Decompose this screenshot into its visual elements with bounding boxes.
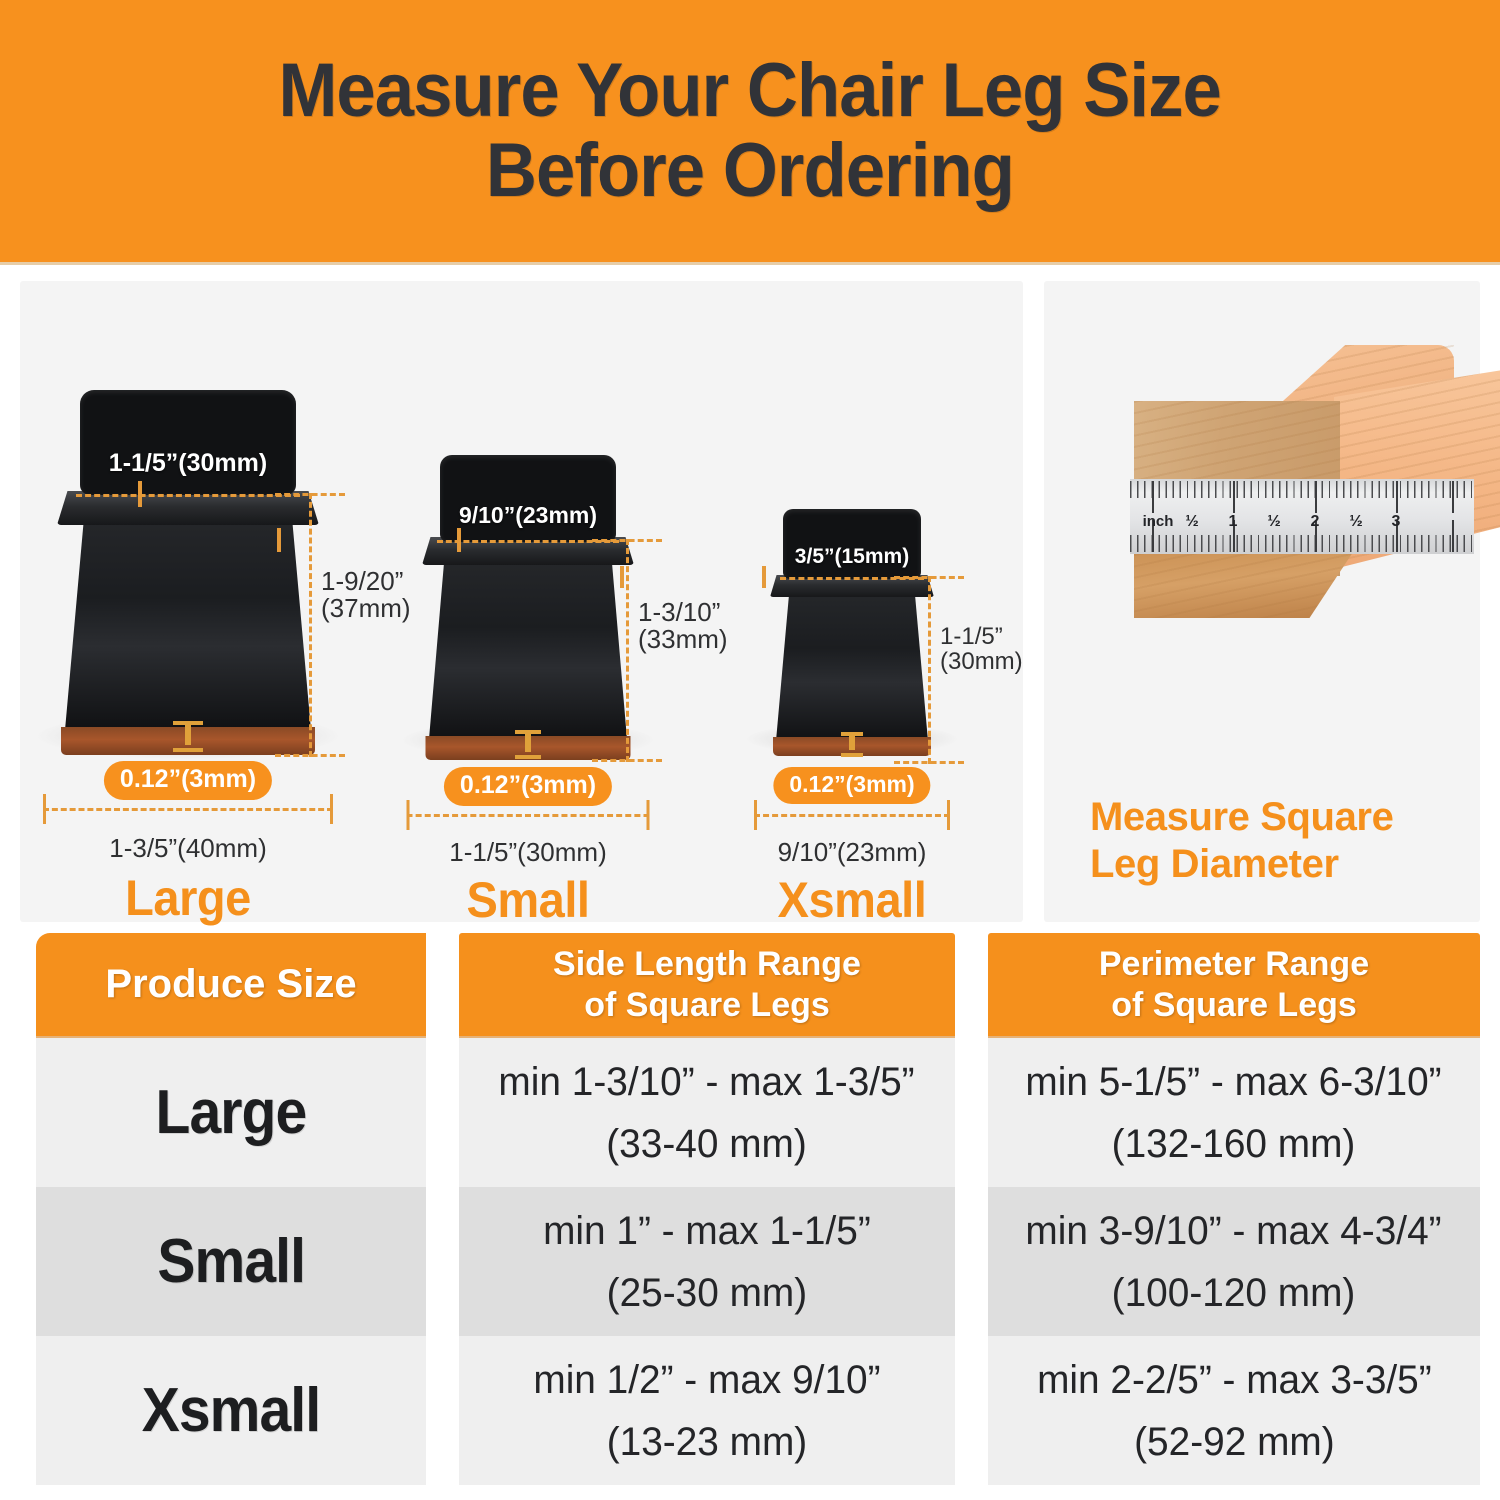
wood-bottom-surface: [1134, 543, 1359, 618]
height-label-line2-small: (33mm): [638, 624, 728, 654]
thickness-label-xsmall: 0.12”(3mm): [773, 767, 930, 804]
table-cell-size: Xsmall: [36, 1336, 426, 1485]
height-line-xsmall: [928, 576, 931, 764]
cap-body: [65, 510, 311, 730]
table-cell-perimeter-small: min 3-9/10” - max 4-3/4” (100-120 mm): [988, 1187, 1480, 1336]
product-xsmall: 3/5”(15mm) 1-1/5” (30mm) 0.12”(3mm): [692, 281, 1012, 922]
bottom-width-dimension-xsmall: [754, 800, 950, 830]
ruler-label-2: 2: [1311, 513, 1320, 531]
top-width-label-large: 1-1/5”(30mm): [109, 449, 267, 478]
thickness-cap-top-large: [173, 721, 203, 725]
column-divider: [426, 1038, 459, 1187]
height-cap-top-small: [592, 539, 662, 542]
height-line-small: [626, 539, 629, 762]
cap-top-face: [80, 390, 296, 495]
thickness-label-large: 0.12”(3mm): [104, 761, 272, 800]
side-length-mm-large: (33-40 mm): [499, 1113, 915, 1175]
product-list: 1-1/5”(30mm) 1-9/20” (37mm) 0.12”(3mm): [20, 281, 1023, 922]
ruler-major-tick: [1152, 481, 1154, 513]
product-name-small: Small: [466, 871, 589, 929]
height-label-line1-large: 1-9/20”: [321, 566, 403, 596]
table-row: Xsmall min 1/2” - max 9/10” (13-23 mm) m…: [36, 1336, 1480, 1485]
table-cell-size: Large: [36, 1038, 426, 1187]
product-sizes-panel: 1-1/5”(30mm) 1-9/20” (37mm) 0.12”(3mm): [20, 281, 1023, 922]
bottom-width-label-small: 1-1/5”(30mm): [449, 837, 606, 868]
top-width-tick-right-large: [138, 481, 142, 507]
top-width-tick-left-small: [277, 528, 281, 552]
ruler-label-half-3: ½: [1349, 513, 1362, 531]
top-width-tick-left-xsmall: [620, 566, 624, 588]
table-header-produce-size: Produce Size: [36, 933, 426, 1038]
height-cap-bottom-large: [275, 754, 345, 757]
measure-leg-caption: Measure Square Leg Diameter: [1090, 794, 1393, 888]
table-cell-perimeter-large: min 5-1/5” - max 6-3/10” (132-160 mm): [988, 1038, 1480, 1187]
ruler-label-half-1: ½: [1185, 513, 1198, 531]
thickness-cap-top-xsmall: [841, 732, 863, 736]
measure-leg-panel: inch ½ 1 ½ 2 ½ 3 Measure Square Leg Diam…: [1044, 281, 1480, 922]
table-header-perimeter-line2: of Square Legs: [1111, 986, 1357, 1024]
table-cell-side-length-large: min 1-3/10” - max 1-3/5” (33-40 mm): [459, 1038, 955, 1187]
table-header-side-length-line2: of Square Legs: [584, 986, 830, 1024]
measure-leg-caption-line2: Leg Diameter: [1090, 841, 1393, 888]
side-length-inches-small: min 1” - max 1-1/5”: [543, 1209, 871, 1253]
ruler-label-inch: inch: [1143, 513, 1174, 530]
ruler-label-half-2: ½: [1267, 513, 1280, 531]
side-length-inches-xsmall: min 1/2” - max 9/10”: [533, 1358, 880, 1402]
height-cap-top-xsmall: [894, 576, 964, 579]
thickness-cap-top-small: [515, 730, 541, 734]
height-label-large: 1-9/20” (37mm): [321, 568, 411, 623]
column-divider: [426, 1336, 459, 1485]
height-line-large: [309, 493, 312, 757]
product-name-large: Large: [125, 869, 251, 927]
ruler: inch ½ 1 ½ 2 ½ 3: [1130, 479, 1474, 554]
bottom-width-line-small: [407, 814, 650, 817]
column-divider: [955, 1038, 988, 1187]
ruler-major-tick: [1396, 481, 1398, 513]
table-row: Small min 1” - max 1-1/5” (25-30 mm) min…: [36, 1187, 1480, 1336]
table-row: Large min 1-3/10” - max 1-3/5” (33-40 mm…: [36, 1038, 1480, 1187]
wood-leg-illustration: inch ½ 1 ½ 2 ½ 3: [1044, 281, 1480, 751]
side-length-mm-xsmall: (13-23 mm): [533, 1411, 880, 1473]
product-name-xsmall: Xsmall: [778, 871, 927, 929]
perimeter-inches-xsmall: min 2-2/5” - max 3-3/5”: [1037, 1358, 1432, 1402]
page-title-line-1: Measure Your Chair Leg Size: [279, 51, 1221, 131]
thickness-cap-bottom-large: [173, 748, 203, 752]
height-label-small: 1-3/10” (33mm): [638, 599, 728, 654]
thickness-cap-bottom-xsmall: [841, 753, 863, 757]
bottom-width-line-xsmall: [754, 814, 950, 817]
thickness-tick-small: [525, 732, 531, 752]
side-length-mm-small: (25-30 mm): [543, 1262, 871, 1324]
height-label-line2-xsmall: (30mm): [940, 648, 1023, 675]
table-header-row: Produce Size Side Length Range of Square…: [36, 933, 1480, 1038]
ruler-ticks-top: [1130, 481, 1474, 498]
table-header-side-length: Side Length Range of Square Legs: [459, 933, 955, 1038]
table-cell-size: Small: [36, 1187, 426, 1336]
top-width-tick-right-xsmall: [762, 566, 766, 588]
height-cap-bottom-small: [592, 759, 662, 762]
size-name-xsmall: Xsmall: [142, 1375, 320, 1446]
table-header-perimeter: Perimeter Range of Square Legs: [988, 933, 1480, 1038]
thickness-tick-large: [185, 723, 191, 745]
top-width-label-xsmall: 3/5”(15mm): [795, 545, 909, 569]
ruler-major-tick: [1452, 520, 1454, 552]
column-divider: [955, 1187, 988, 1336]
perimeter-mm-large: (132-160 mm): [1026, 1113, 1442, 1175]
product-small: 9/10”(23mm) 1-3/10” (33mm) 0.12”(3mm): [368, 281, 688, 922]
height-label-xsmall: 1-1/5” (30mm): [940, 624, 1023, 674]
height-label-line1-small: 1-3/10”: [638, 597, 720, 627]
ruler-major-tick: [1452, 481, 1454, 513]
wood-grain-texture: [1134, 543, 1359, 618]
top-width-dash-large: [76, 494, 300, 497]
bottom-width-label-large: 1-3/5”(40mm): [109, 833, 266, 864]
height-label-line1-xsmall: 1-1/5”: [940, 623, 1003, 650]
side-length-inches-large: min 1-3/10” - max 1-3/5”: [499, 1060, 915, 1104]
thickness-label-small: 0.12”(3mm): [444, 767, 612, 806]
perimeter-mm-small: (100-120 mm): [1026, 1262, 1442, 1324]
table-cell-perimeter-xsmall: min 2-2/5” - max 3-3/5” (52-92 mm): [988, 1336, 1480, 1485]
cap-body: [776, 587, 928, 741]
height-cap-top-large: [275, 493, 345, 496]
ruler-ticks-bottom: [1130, 535, 1474, 552]
product-large: 1-1/5”(30mm) 1-9/20” (37mm) 0.12”(3mm): [28, 281, 348, 922]
bottom-width-line-large: [43, 808, 333, 811]
perimeter-mm-xsmall: (52-92 mm): [1037, 1411, 1432, 1473]
table-body: Large min 1-3/10” - max 1-3/5” (33-40 mm…: [36, 1038, 1480, 1485]
top-width-tick-right-small: [457, 528, 461, 552]
ruler-label-1: 1: [1229, 513, 1238, 531]
perimeter-inches-small: min 3-9/10” - max 4-3/4”: [1026, 1209, 1442, 1253]
column-divider: [955, 1336, 988, 1485]
size-chart-table: Produce Size Side Length Range of Square…: [36, 933, 1480, 1485]
column-divider: [426, 1187, 459, 1336]
ruler-major-tick: [1315, 481, 1317, 513]
table-cell-side-length-xsmall: min 1/2” - max 9/10” (13-23 mm): [459, 1336, 955, 1485]
page-title-line-2: Before Ordering: [486, 131, 1014, 211]
measure-leg-caption-line1: Measure Square: [1090, 794, 1393, 841]
ruler-major-tick: [1233, 481, 1235, 513]
table-cell-side-length-small: min 1” - max 1-1/5” (25-30 mm): [459, 1187, 955, 1336]
bottom-width-label-xsmall: 9/10”(23mm): [778, 837, 927, 868]
height-cap-bottom-xsmall: [894, 761, 964, 764]
table-header-perimeter-line1: Perimeter Range: [1099, 945, 1369, 983]
height-label-line2-large: (37mm): [321, 593, 411, 623]
size-name-small: Small: [157, 1226, 305, 1297]
size-name-large: Large: [156, 1077, 307, 1148]
thickness-cap-bottom-small: [515, 755, 541, 759]
column-divider: [955, 933, 988, 1038]
top-width-label-small: 9/10”(23mm): [459, 502, 597, 529]
ruler-label-3: 3: [1392, 513, 1401, 531]
thickness-tick-xsmall: [849, 734, 855, 750]
cap-body: [429, 553, 627, 739]
column-divider: [426, 933, 459, 1038]
page-header: Measure Your Chair Leg Size Before Order…: [0, 0, 1500, 265]
table-header-side-length-line1: Side Length Range: [553, 945, 861, 983]
perimeter-inches-large: min 5-1/5” - max 6-3/10”: [1026, 1060, 1442, 1104]
